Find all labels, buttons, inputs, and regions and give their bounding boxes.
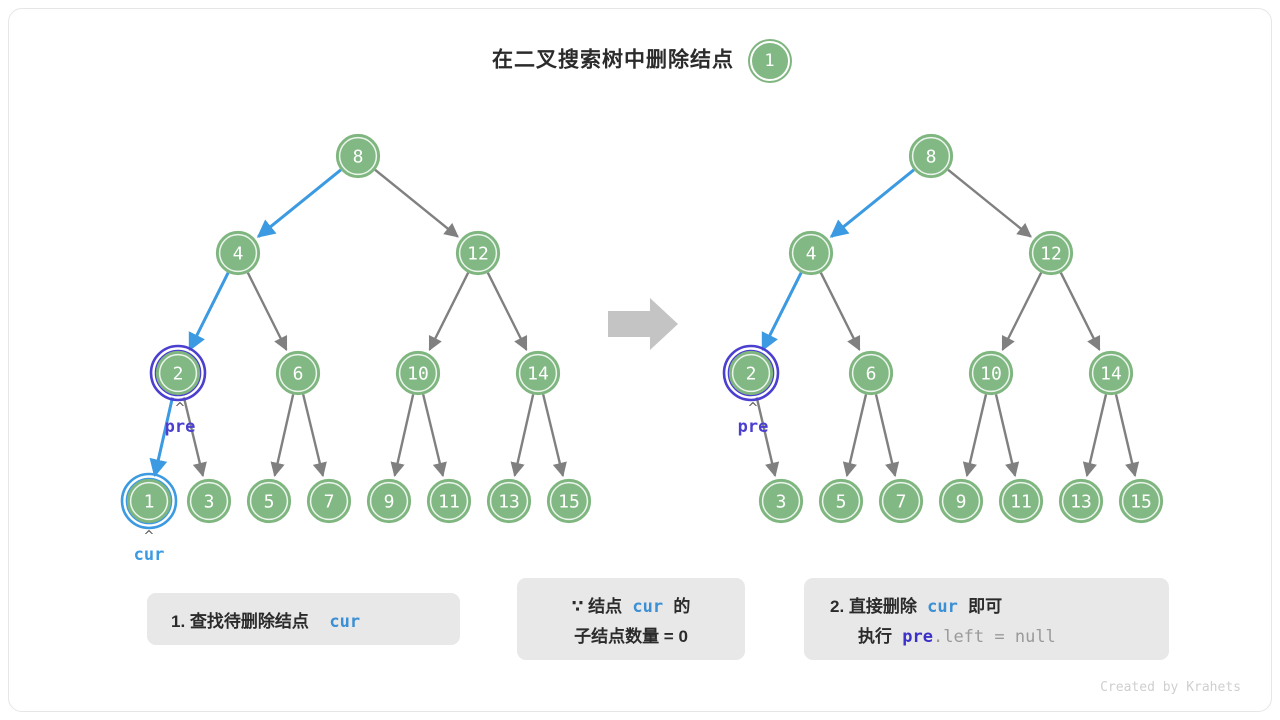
tree-node[interactable]: 6 — [277, 352, 319, 394]
tree-node[interactable]: 4 — [790, 232, 832, 274]
pointer-caret-icon: ^ — [144, 529, 155, 544]
tree-edge — [831, 170, 914, 237]
tree-edge — [996, 394, 1015, 475]
tree-node[interactable]: 1 — [122, 474, 176, 528]
tree-node-value: 4 — [233, 244, 244, 265]
tree-node-value: 5 — [836, 492, 847, 513]
tree-edge — [515, 394, 533, 475]
tree-node-value: 11 — [438, 492, 460, 513]
tree-node-value: 12 — [467, 244, 489, 265]
tree-node[interactable]: 15 — [1120, 480, 1162, 522]
tree-node[interactable]: 14 — [517, 352, 559, 394]
tree-node[interactable]: 9 — [940, 480, 982, 522]
tree-node[interactable]: 2 — [724, 346, 778, 400]
tree-edge — [375, 170, 458, 237]
tree-node-value: 15 — [558, 492, 580, 513]
pointer-label-pre: pre — [165, 417, 196, 437]
tree-node[interactable]: 9 — [368, 480, 410, 522]
tree-node[interactable]: 2 — [151, 346, 205, 400]
tree-canvas: 8412261014135791113158412261014357911131… — [0, 0, 1280, 720]
tree-node[interactable]: 3 — [760, 480, 802, 522]
pointer-label-cur: cur — [134, 545, 165, 565]
transition-arrow — [608, 298, 678, 350]
tree-node[interactable]: 11 — [428, 480, 470, 522]
tree-node-value: 7 — [324, 492, 335, 513]
tree-node[interactable]: 7 — [308, 480, 350, 522]
tree-edge — [1061, 273, 1100, 350]
tree-node-value: 8 — [926, 147, 937, 168]
tree-edge — [821, 273, 860, 350]
tree-node[interactable]: 13 — [1060, 480, 1102, 522]
tree-edge — [763, 273, 802, 350]
tree-node-value: 3 — [204, 492, 215, 513]
tree-node[interactable]: 12 — [457, 232, 499, 274]
tree-node-value: 3 — [776, 492, 787, 513]
tree-edge — [190, 273, 229, 350]
tree-node[interactable]: 10 — [397, 352, 439, 394]
tree-node-value: 15 — [1130, 492, 1152, 513]
tree-node[interactable]: 10 — [970, 352, 1012, 394]
tree-edge — [248, 273, 287, 350]
tree-node[interactable]: 5 — [248, 480, 290, 522]
tree-edge — [303, 394, 323, 475]
tree-node-value: 2 — [746, 364, 757, 385]
tree-node-value: 8 — [353, 147, 364, 168]
tree-node-value: 7 — [896, 492, 907, 513]
tree-node-value: 14 — [527, 364, 549, 385]
tree-node-value: 10 — [980, 364, 1002, 385]
tree-edge — [1116, 394, 1135, 475]
tree-node-value: 6 — [866, 364, 877, 385]
tree-node-value: 6 — [293, 364, 304, 385]
tree-edge — [948, 170, 1031, 237]
tree-node-value: 11 — [1010, 492, 1032, 513]
pointer-caret-icon: ^ — [748, 401, 759, 416]
tree-edge — [1087, 394, 1106, 475]
tree-edge — [967, 394, 986, 475]
tree-edge — [543, 394, 563, 475]
tree-node[interactable]: 12 — [1030, 232, 1072, 274]
tree-edge — [488, 273, 527, 350]
pointer-caret-icon: ^ — [175, 401, 186, 416]
tree-node-value: 1 — [144, 492, 155, 513]
tree-node-value: 5 — [264, 492, 275, 513]
tree-node[interactable]: 13 — [488, 480, 530, 522]
tree-node[interactable]: 14 — [1090, 352, 1132, 394]
tree-node[interactable]: 3 — [188, 480, 230, 522]
tree-node-value: 10 — [407, 364, 429, 385]
tree-node-value: 4 — [806, 244, 817, 265]
tree-edge — [430, 273, 469, 350]
tree-node-value: 12 — [1040, 244, 1062, 265]
tree-edge — [876, 394, 895, 475]
tree-node-value: 9 — [956, 492, 967, 513]
tree-node-value: 13 — [1070, 492, 1092, 513]
tree-edge — [395, 394, 413, 475]
tree-edge — [258, 170, 341, 237]
tree-node[interactable]: 8 — [910, 135, 952, 177]
tree-node-value: 9 — [384, 492, 395, 513]
tree-node-value: 13 — [498, 492, 520, 513]
tree-node[interactable]: 15 — [548, 480, 590, 522]
tree-node[interactable]: 5 — [820, 480, 862, 522]
tree-edge — [275, 394, 293, 475]
tree-node-value: 2 — [173, 364, 184, 385]
tree-node[interactable]: 11 — [1000, 480, 1042, 522]
tree-edge — [1003, 273, 1042, 350]
tree-node[interactable]: 8 — [337, 135, 379, 177]
tree-node[interactable]: 7 — [880, 480, 922, 522]
tree-edge — [847, 394, 866, 475]
tree-node[interactable]: 4 — [217, 232, 259, 274]
tree-node[interactable]: 6 — [850, 352, 892, 394]
pointer-label-pre: pre — [738, 417, 769, 437]
tree-node-value: 14 — [1100, 364, 1122, 385]
tree-edge — [423, 394, 443, 475]
